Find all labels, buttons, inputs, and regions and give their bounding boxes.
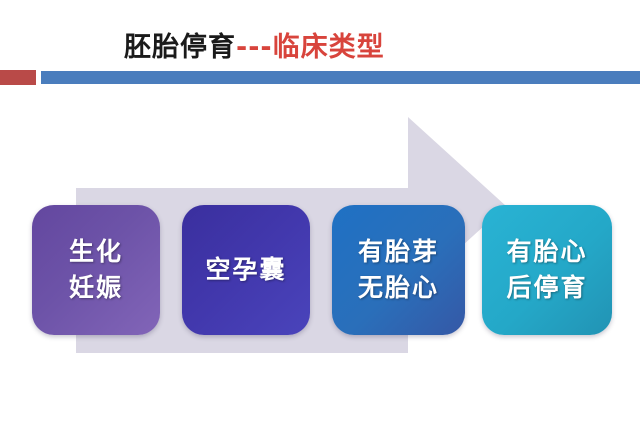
page-title-main: 胚胎停育 <box>124 32 236 63</box>
title-area: 胚胎停育---临床类型 <box>0 0 640 90</box>
divider-red-block <box>0 70 36 85</box>
flow-stage-2[interactable]: 空孕囊 <box>182 205 310 335</box>
flow-stage-4[interactable]: 有胎心 后停育 <box>482 205 612 335</box>
page-title-subtitle: ---临床类型 <box>236 32 385 63</box>
flow-stage-2-line-1: 空孕囊 <box>205 252 286 288</box>
flow-stage-4-line-1: 有胎心 <box>506 234 587 270</box>
page-title: 胚胎停育---临床类型 <box>124 31 385 65</box>
slide-canvas: 胚胎停育---临床类型 生化 妊娠 空孕囊 有胎芽 无胎心 有胎心 后停育 <box>0 0 640 446</box>
flow-stage-3-line-2: 无胎心 <box>358 270 439 306</box>
flow-stage-3[interactable]: 有胎芽 无胎心 <box>332 205 465 335</box>
flow-stage-1-line-2: 妊娠 <box>69 270 123 306</box>
flow-stage-3-line-1: 有胎芽 <box>358 234 439 270</box>
flow-stage-1[interactable]: 生化 妊娠 <box>32 205 160 335</box>
flow-stage-4-line-2: 后停育 <box>506 270 587 306</box>
divider-blue-bar <box>41 71 640 84</box>
flow-stage-1-line-1: 生化 <box>69 234 123 270</box>
